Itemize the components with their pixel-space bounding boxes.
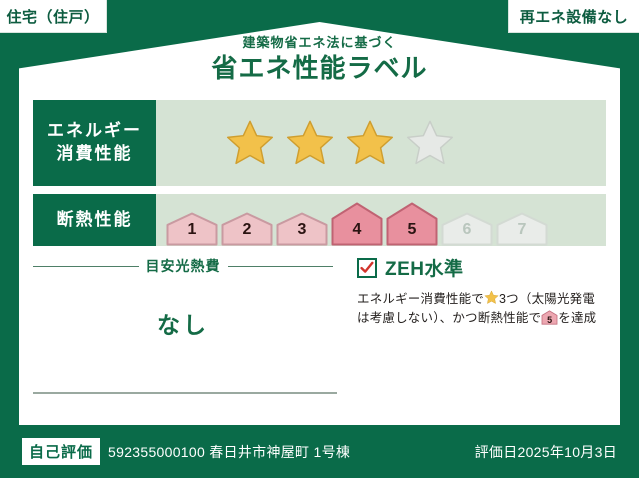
energy-performance-label-line1: エネルギー <box>47 120 142 143</box>
section-divider <box>33 392 337 394</box>
utility-cost-rule-left <box>33 266 139 267</box>
energy-performance-body <box>156 100 606 186</box>
energy-performance-row: エネルギー 消費性能 <box>33 100 606 186</box>
utility-cost-heading-text: 目安光熱費 <box>146 256 221 276</box>
insulation-level-7: 7 <box>496 212 548 246</box>
insulation-performance-row: 断熱性能 1234567 <box>33 194 606 246</box>
zeh-standard-title: ZEH水準 <box>385 254 464 281</box>
zeh-standard-heading: ZEH水準 <box>357 254 607 281</box>
evaluation-date: 評価日2025年10月3日 <box>475 442 617 462</box>
zeh-desc-part1: エネルギー消費性能で <box>357 292 484 306</box>
insulation-level-scale: 1234567 <box>156 194 548 246</box>
page-title: 省エネ性能ラベル <box>0 55 639 82</box>
label-body-card: エネルギー 消費性能 断熱性能 1234567 目安光熱費 なし <box>19 84 620 425</box>
property-info: 592355000100 春日井市神屋町 1号棟 <box>108 442 350 462</box>
insulation-performance-label-text: 断熱性能 <box>57 209 133 232</box>
checkbox-checked-icon <box>357 258 377 278</box>
utility-cost-block: 目安光熱費 なし <box>33 256 333 340</box>
label-footer: 自己評価 592355000100 春日井市神屋町 1号棟 評価日2025年10… <box>0 425 639 478</box>
zeh-standard-description: エネルギー消費性能で3つ（太陽光発電 は考慮しない）、かつ断熱性能で5を達成 <box>357 290 607 329</box>
energy-performance-label: エネルギー 消費性能 <box>33 100 156 186</box>
insulation-level-5: 5 <box>386 202 438 246</box>
star-filled-icon <box>284 118 336 168</box>
insulation-performance-label: 断熱性能 <box>33 194 156 246</box>
zeh-desc-part3: を達成 <box>558 311 596 325</box>
insulation-level-badge-icon: 5 <box>541 310 558 325</box>
utility-cost-heading: 目安光熱費 <box>33 256 333 276</box>
insulation-level-2: 2 <box>221 212 273 246</box>
zeh-desc-part2: は考慮しない）、かつ断熱性能で <box>357 311 541 325</box>
insulation-level-badge-value: 5 <box>541 316 558 325</box>
insulation-level-4: 4 <box>331 202 383 246</box>
utility-cost-value: なし <box>33 306 333 340</box>
star-icon <box>484 290 499 305</box>
insulation-level-3: 3 <box>276 212 328 246</box>
star-filled-icon <box>224 118 276 168</box>
evaluation-type-badge: 自己評価 <box>22 438 100 465</box>
energy-performance-label-line2: 消費性能 <box>57 143 133 166</box>
insulation-performance-body: 1234567 <box>156 194 606 246</box>
insulation-level-6: 6 <box>441 212 493 246</box>
star-empty-icon <box>404 118 456 168</box>
star-filled-icon <box>344 118 396 168</box>
energy-performance-label: 住宅（住戸） 再エネ設備なし 建築物省エネ法に基づく 省エネ性能ラベル エネルギ… <box>0 0 639 478</box>
zeh-desc-stars: 3つ（太陽光発電 <box>499 292 595 306</box>
label-header-text: 建築物省エネ法に基づく 省エネ性能ラベル <box>0 36 639 82</box>
star-rating <box>156 118 456 168</box>
insulation-level-1: 1 <box>166 212 218 246</box>
zeh-standard-block: ZEH水準 エネルギー消費性能で3つ（太陽光発電 は考慮しない）、かつ断熱性能で… <box>357 254 607 329</box>
header-subtitle: 建築物省エネ法に基づく <box>0 36 639 49</box>
utility-cost-rule-right <box>228 266 334 267</box>
